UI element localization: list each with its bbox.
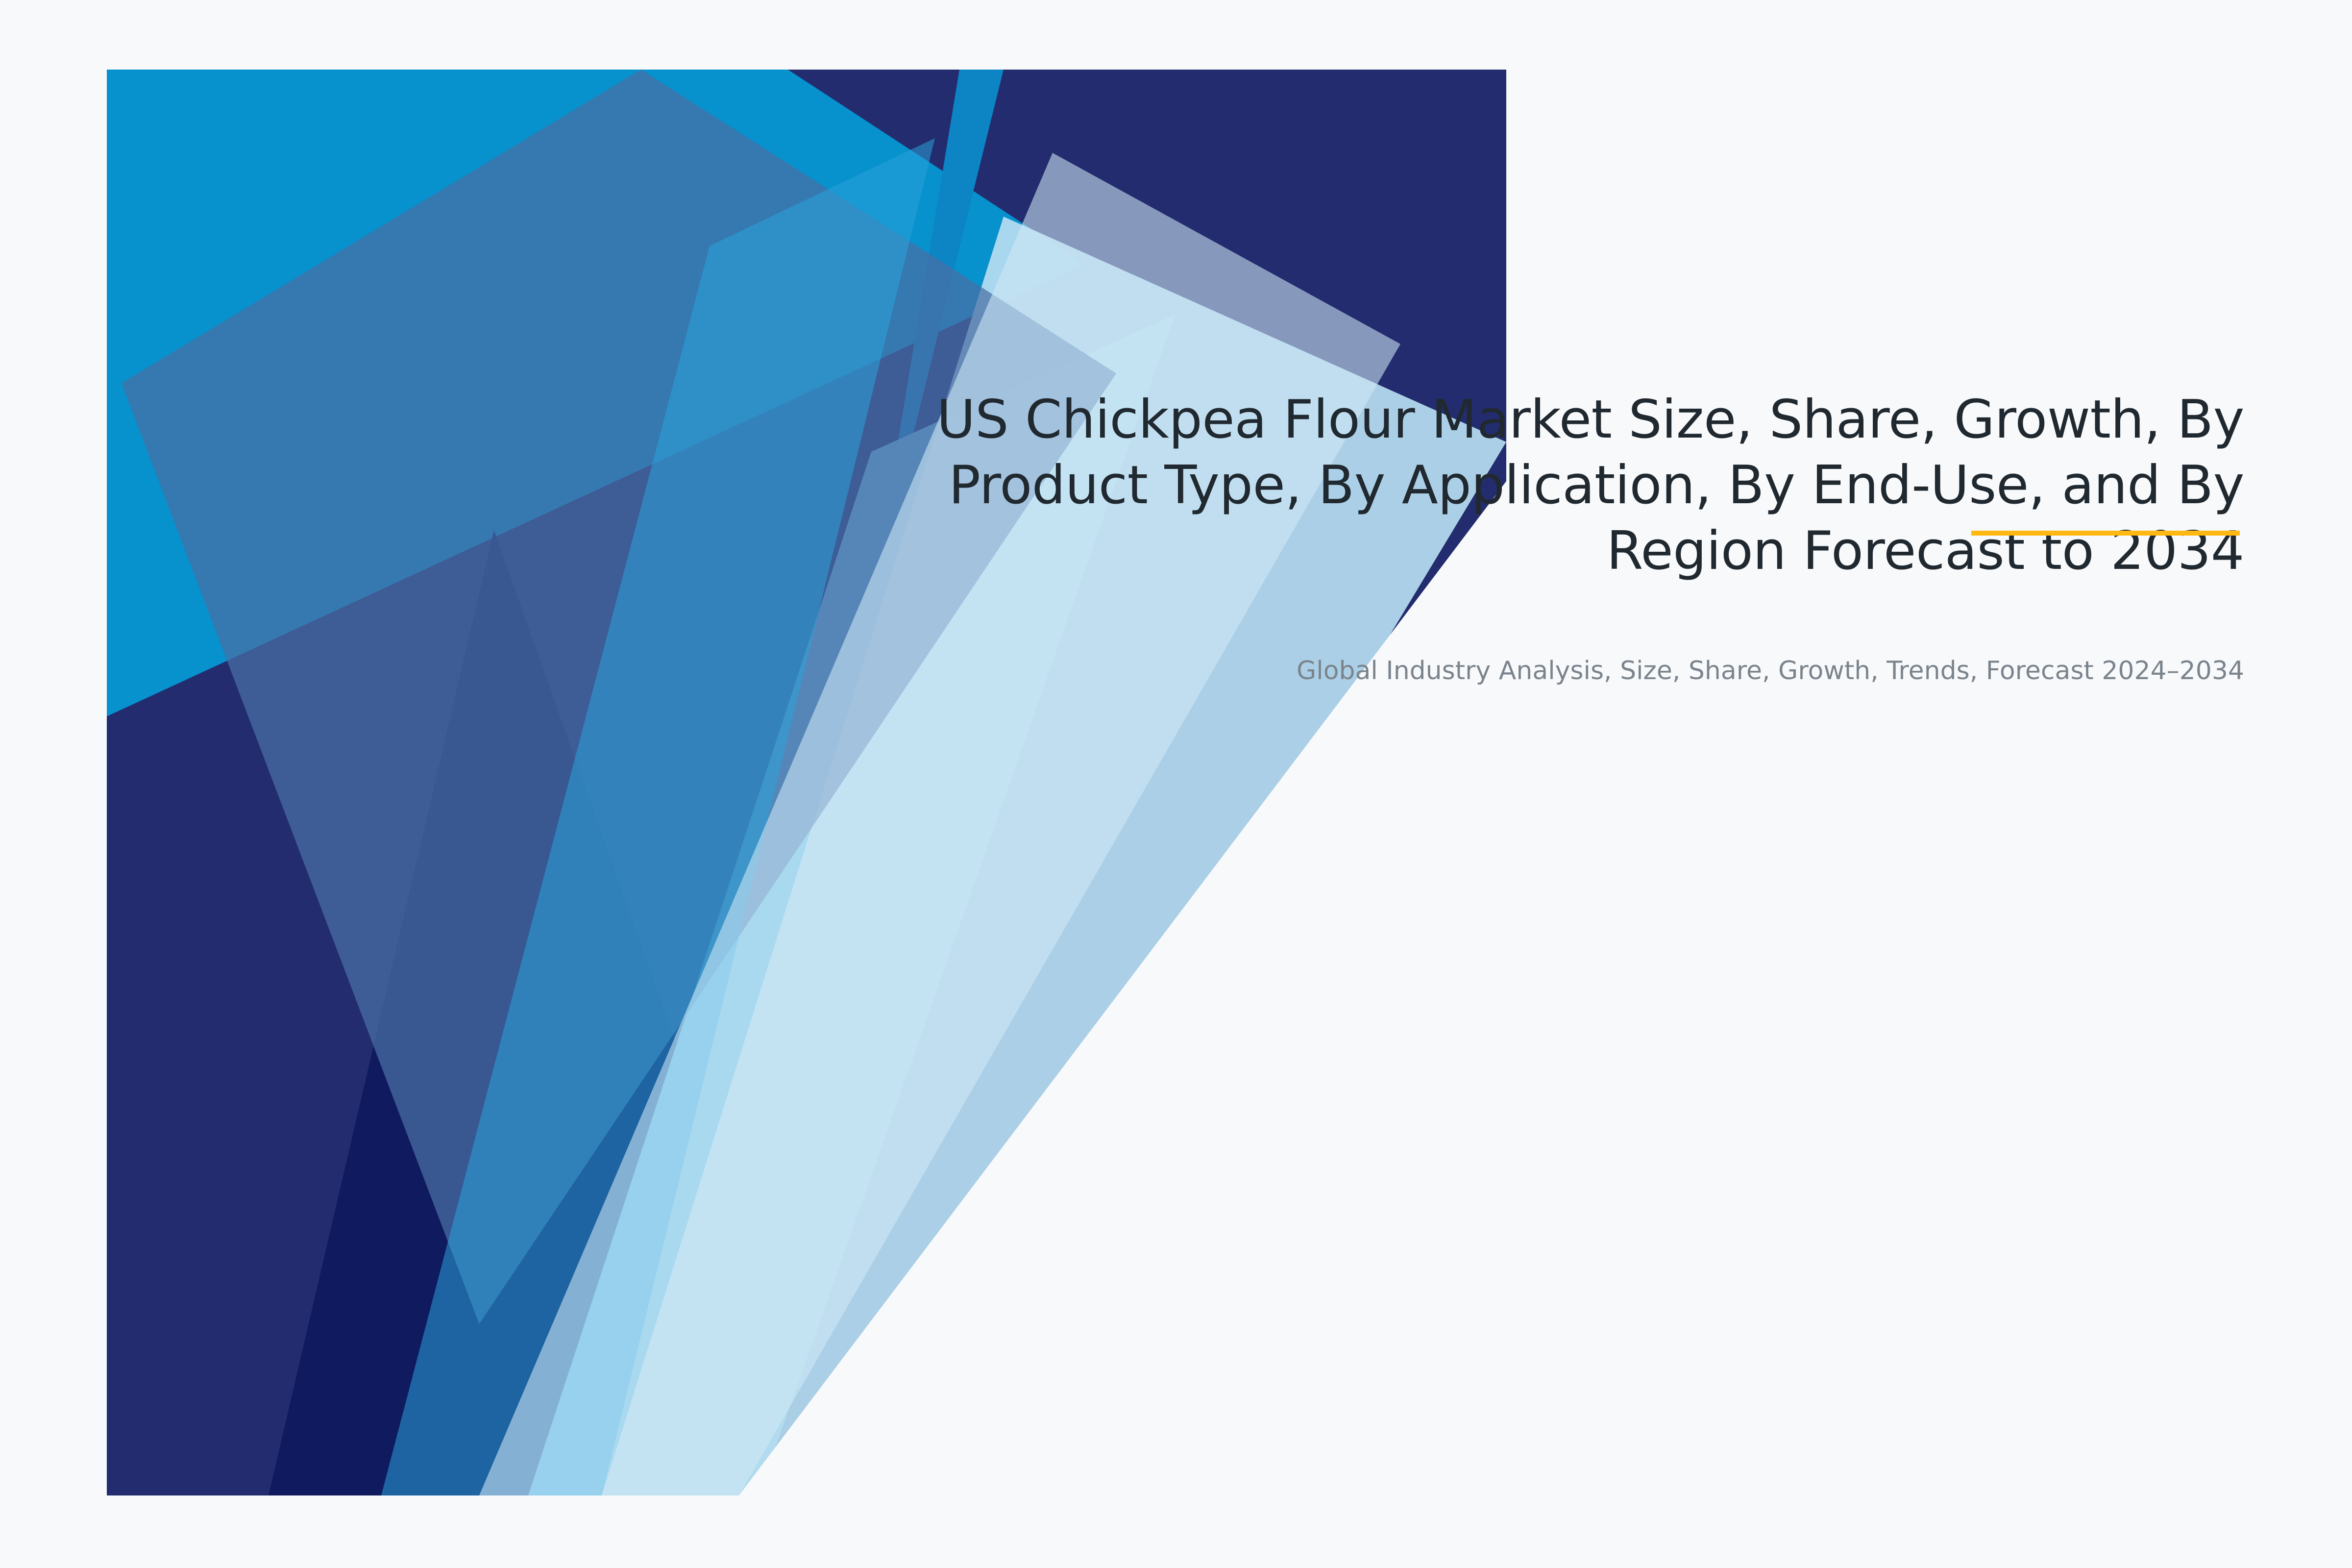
cover-page: US Chickpea Flour Market Size, Share, Gr… (0, 0, 2352, 1568)
cover-title-block: US Chickpea Flour Market Size, Share, Gr… (764, 387, 2244, 584)
page-title: US Chickpea Flour Market Size, Share, Gr… (764, 387, 2244, 584)
cover-artwork (107, 70, 1506, 1495)
page-subtitle: Global Industry Analysis, Size, Share, G… (774, 655, 2244, 688)
accent-underline (1971, 531, 2240, 536)
cover-subtitle-block: Global Industry Analysis, Size, Share, G… (774, 655, 2244, 688)
abstract-geometric-graphic (107, 70, 1506, 1495)
